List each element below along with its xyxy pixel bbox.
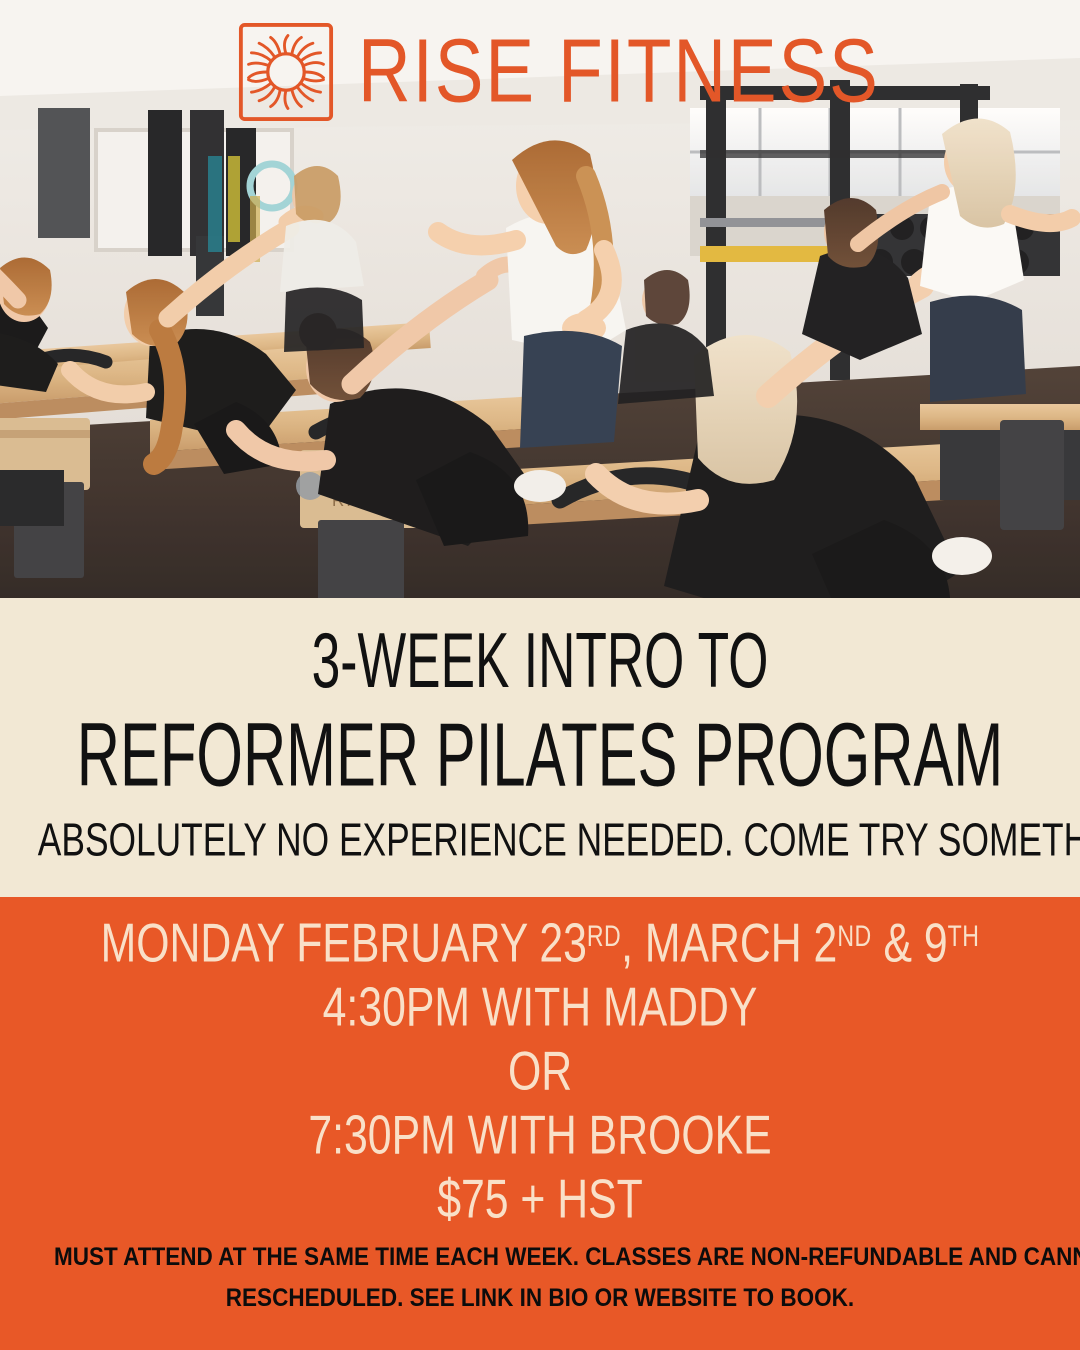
- headline-line-2: REFORMER PILATES PROGRAM: [65, 704, 1015, 807]
- subheadline: ABSOLUTELY NO EXPERIENCE NEEDED. COME TR…: [38, 815, 1042, 867]
- ordinal-th: TH: [948, 920, 980, 953]
- class-price: $75 + HST: [27, 1167, 1053, 1230]
- details-band: MONDAY FEBRUARY 23RD, MARCH 2ND & 9TH 4:…: [0, 897, 1080, 1350]
- class-time-option-2: 7:30PM WITH BROOKE: [27, 1103, 1053, 1166]
- headline-band: 3-WEEK INTRO TO REFORMER PILATES PROGRAM…: [0, 598, 1080, 897]
- brand-wordmark: RISE FITNESS: [358, 29, 880, 114]
- fine-print: MUST ATTEND AT THE SAME TIME EACH WEEK. …: [54, 1237, 1026, 1318]
- dates-mid-2: & 9: [872, 911, 948, 973]
- option-separator: OR: [27, 1039, 1053, 1102]
- dates-prefix: MONDAY FEBRUARY 23: [101, 911, 587, 973]
- fine-print-line-1: MUST ATTEND AT THE SAME TIME EACH WEEK. …: [54, 1237, 1026, 1278]
- ordinal-rd: RD: [587, 920, 621, 953]
- class-dates: MONDAY FEBRUARY 23RD, MARCH 2ND & 9TH: [27, 911, 1053, 974]
- hero-photo: RIALTO RIALTO: [0, 0, 1080, 600]
- dates-mid: , MARCH 2: [621, 911, 837, 973]
- class-time-option-1: 4:30PM WITH MADDY: [27, 975, 1053, 1038]
- fine-print-line-2: RESCHEDULED. SEE LINK IN BIO OR WEBSITE …: [54, 1278, 1026, 1319]
- ordinal-nd: ND: [837, 920, 871, 953]
- promo-poster: RIALTO RIALTO: [0, 0, 1080, 1350]
- sun-burst-icon: [238, 22, 334, 122]
- headline-line-1: 3-WEEK INTRO TO: [76, 616, 1005, 706]
- brand-logo: RISE FITNESS: [238, 22, 901, 122]
